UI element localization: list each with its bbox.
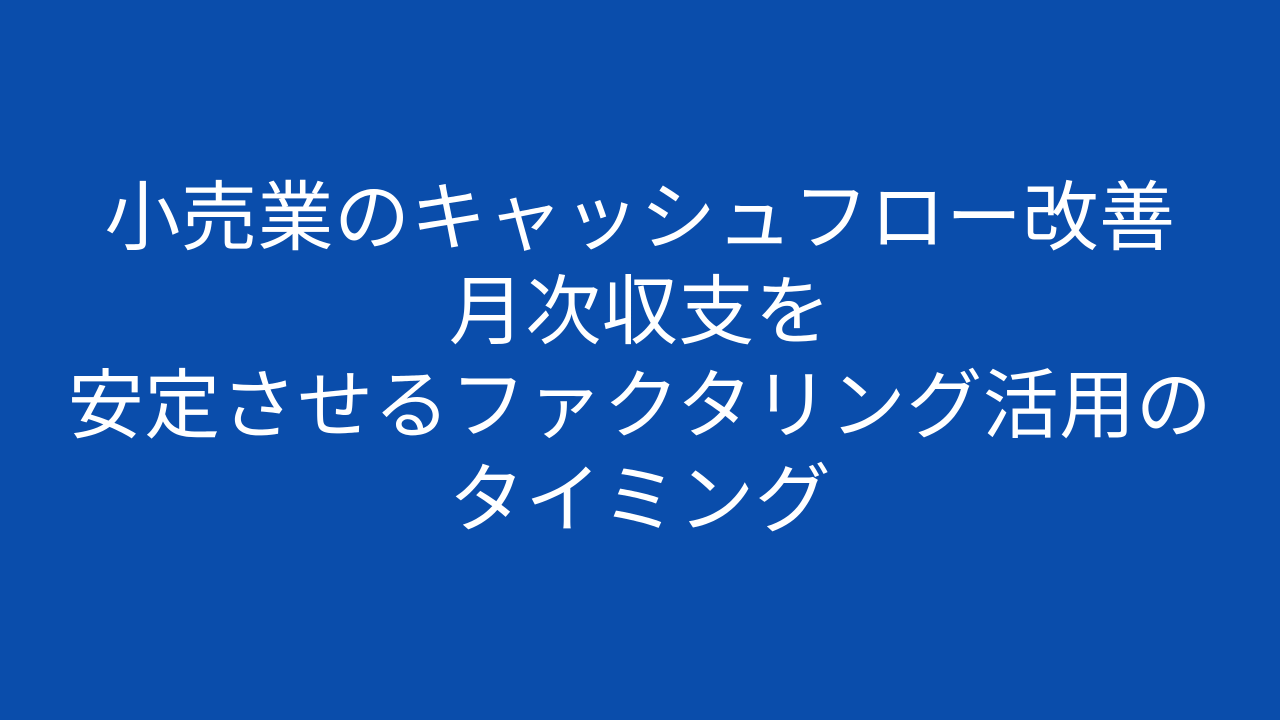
title-line-1: 小売業のキャッシュフロー改善 xyxy=(20,171,1260,265)
title-line-2: 月次収支を xyxy=(20,265,1260,359)
page-title: 小売業のキャッシュフロー改善 月次収支を 安定させるファクタリング活用の タイミ… xyxy=(20,171,1260,547)
title-line-3: 安定させるファクタリング活用の xyxy=(20,359,1260,453)
title-line-4: タイミング xyxy=(20,453,1260,547)
title-slide: 小売業のキャッシュフロー改善 月次収支を 安定させるファクタリング活用の タイミ… xyxy=(0,0,1280,720)
